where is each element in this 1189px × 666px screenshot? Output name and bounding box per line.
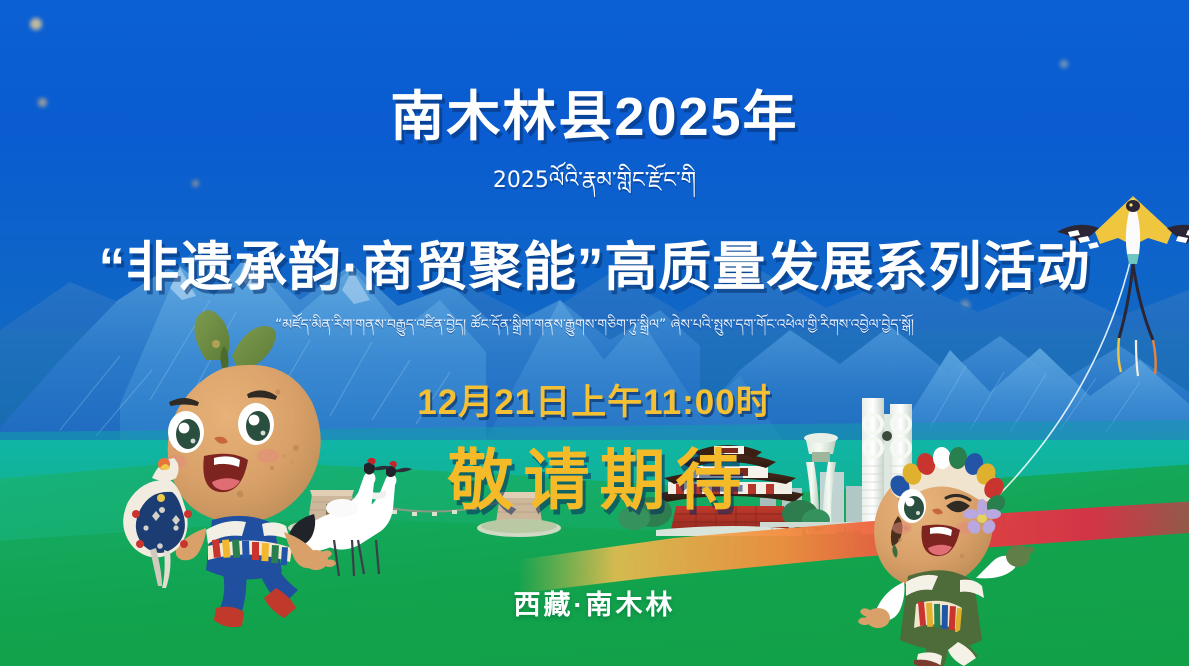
event-datetime: 12月21日上午11:00时 — [0, 374, 1189, 425]
subtitle-chinese: “非遗承韵·商贸聚能”高质量发展系列活动 — [0, 225, 1189, 301]
mascot-hand-right-holding-kite — [1006, 545, 1035, 567]
footer-location: 西藏·南木林 — [0, 583, 1189, 622]
call-to-action: 敬请期待 — [0, 427, 1189, 523]
headline-chinese: 南木林县2025年 — [0, 72, 1189, 151]
headline-tibetan: 2025ལོའི་རྣམ་གླིང་རྫོང་གི — [0, 155, 1189, 217]
promotional-poster: 南木林县2025年 2025ལོའི་རྣམ་གླིང་རྫོང་གི “非遗承… — [0, 0, 1189, 666]
poster-text-block: 南木林县2025年 2025ལོའི་རྣམ་གླིང་རྫོང་གི “非遗承… — [0, 0, 1189, 523]
subtitle-tibetan: “མཛོད་མིན་རིག་གནས་བརྒྱུད་འཛིན་བྱེད། ཚོང་… — [0, 308, 1189, 348]
